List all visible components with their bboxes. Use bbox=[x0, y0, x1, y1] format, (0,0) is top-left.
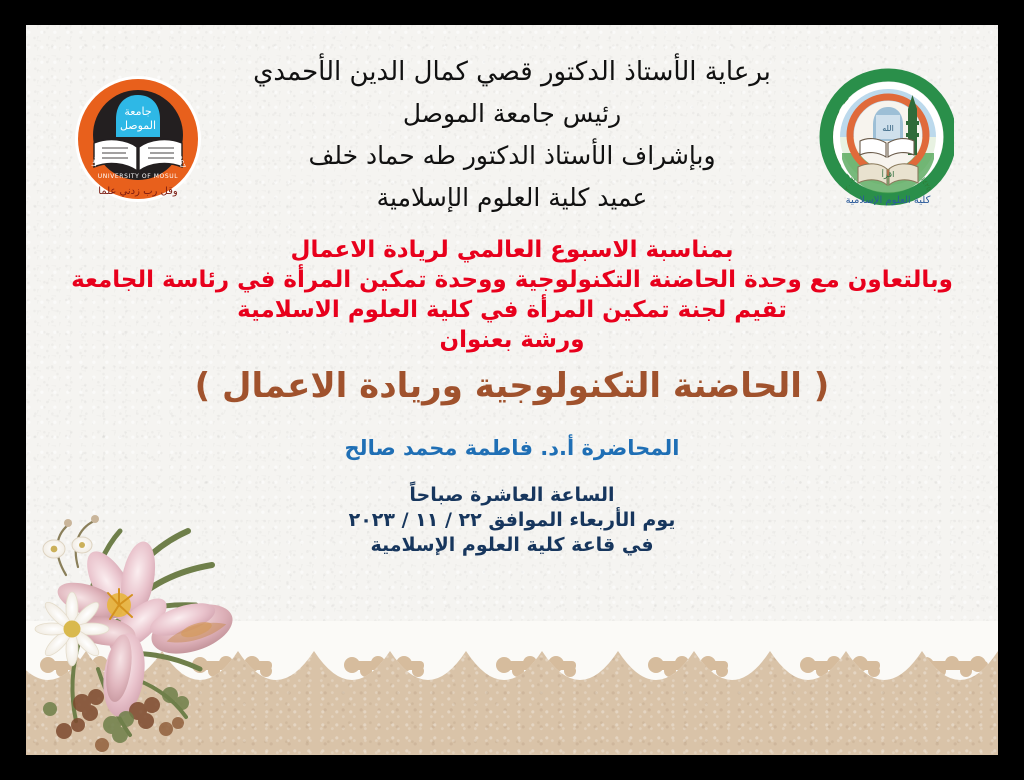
event-details-block: الساعة العاشرة صباحاً يوم الأربعاء الموا… bbox=[26, 483, 998, 558]
poster-text-content: برعاية الأستاذ الدكتور قصي كمال الدين ال… bbox=[26, 25, 998, 558]
announcement-line-3: تقيم لجنة تمكين المرأة في كلية العلوم ال… bbox=[26, 295, 998, 325]
announcement-line-4: ورشة بعنوان bbox=[26, 325, 998, 355]
announcement-line-1: بمناسبة الاسبوع العالمي لريادة الاعمال bbox=[26, 235, 998, 265]
patronage-line-4: عميد كلية العلوم الإسلامية bbox=[26, 177, 998, 219]
patronage-block: برعاية الأستاذ الدكتور قصي كمال الدين ال… bbox=[26, 51, 998, 219]
tan-bottom-band bbox=[26, 630, 998, 755]
announcement-block: بمناسبة الاسبوع العالمي لريادة الاعمال و… bbox=[26, 235, 998, 355]
event-venue: في قاعة كلية العلوم الإسلامية bbox=[26, 533, 998, 558]
lecturer-name: المحاضرة أ.د. فاطمة محمد صالح bbox=[26, 434, 998, 462]
workshop-title: ( الحاضنة التكنولوجية وريادة الاعمال ) bbox=[26, 364, 998, 408]
event-date: يوم الأربعاء الموافق ٢٢ / ١١ / ٢٠٢٣ bbox=[26, 508, 998, 533]
event-time: الساعة العاشرة صباحاً bbox=[26, 483, 998, 508]
patronage-line-3: وبإشراف الأستاذ الدكتور طه حماد خلف bbox=[26, 135, 998, 177]
patronage-line-1: برعاية الأستاذ الدكتور قصي كمال الدين ال… bbox=[26, 51, 998, 93]
poster-frame: جامعة الموصل UNIVERSITY OF MOSUL ١٣٨٧ 19… bbox=[0, 0, 1024, 780]
announcement-line-2: وبالتعاون مع وحدة الحاضنة التكنولوجية وو… bbox=[26, 265, 998, 295]
poster-card: جامعة الموصل UNIVERSITY OF MOSUL ١٣٨٧ 19… bbox=[26, 25, 998, 755]
patronage-line-2: رئيس جامعة الموصل bbox=[26, 93, 998, 135]
